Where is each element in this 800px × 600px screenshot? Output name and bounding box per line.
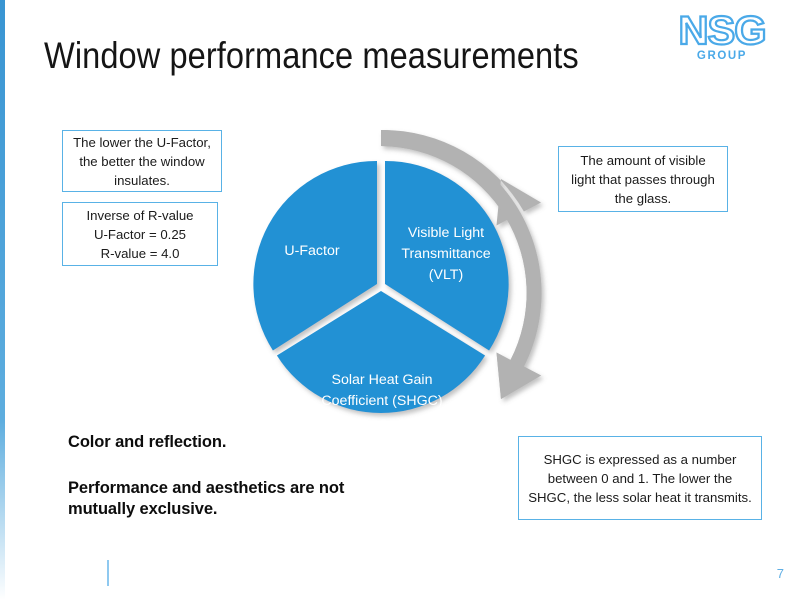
slide-canvas: Window performance measurements NSG GROU… xyxy=(0,0,800,600)
wedge-label-vlt-line-0: Visible Light xyxy=(408,225,484,241)
callout-r-value-line-2: R-value = 4.0 xyxy=(72,244,208,263)
callout-vlt: The amount of visible light that passes … xyxy=(558,146,728,212)
callout-u-factor-text: The lower the U-Factor, the better the w… xyxy=(72,133,212,190)
callout-r-value: Inverse of R-value U-Factor = 0.25 R-val… xyxy=(62,202,218,266)
page-number: 7 xyxy=(777,566,784,581)
footer-tick-mark xyxy=(107,560,109,586)
wedge-label-shgc-line-0: Solar Heat Gain xyxy=(332,372,433,388)
statement-color-reflection: Color and reflection. xyxy=(68,432,226,453)
callout-vlt-text: The amount of visible light that passes … xyxy=(568,151,718,208)
callout-u-factor: The lower the U-Factor, the better the w… xyxy=(62,130,222,192)
callout-r-value-text: Inverse of R-value U-Factor = 0.25 R-val… xyxy=(72,206,208,263)
logo-wordmark: NSG xyxy=(664,10,780,52)
wedge-label-vlt-line-2: (VLT) xyxy=(429,267,463,283)
wedge-label-shgc-line-1: Coefficient (SHGC) xyxy=(321,393,442,409)
callout-shgc: SHGC is expressed as a number between 0 … xyxy=(518,436,762,520)
performance-cycle-diagram: U-Factor Visible Light Transmittance (VL… xyxy=(196,108,566,470)
callout-shgc-text: SHGC is expressed as a number between 0 … xyxy=(528,450,752,507)
callout-r-value-line-1: U-Factor = 0.25 xyxy=(72,225,208,244)
wedge-label-u-factor: U-Factor xyxy=(284,243,339,259)
wedge-label-vlt-line-1: Transmittance xyxy=(401,246,490,262)
nsg-group-logo: NSG GROUP xyxy=(666,10,778,62)
callout-r-value-line-0: Inverse of R-value xyxy=(72,206,208,225)
statement-performance-aesthetics: Performance and aesthetics are not mutua… xyxy=(68,478,378,520)
page-title: Window performance measurements xyxy=(44,34,579,78)
left-edge-accent xyxy=(0,0,5,600)
wedge-label-u-factor-line-0: U-Factor xyxy=(284,243,339,259)
